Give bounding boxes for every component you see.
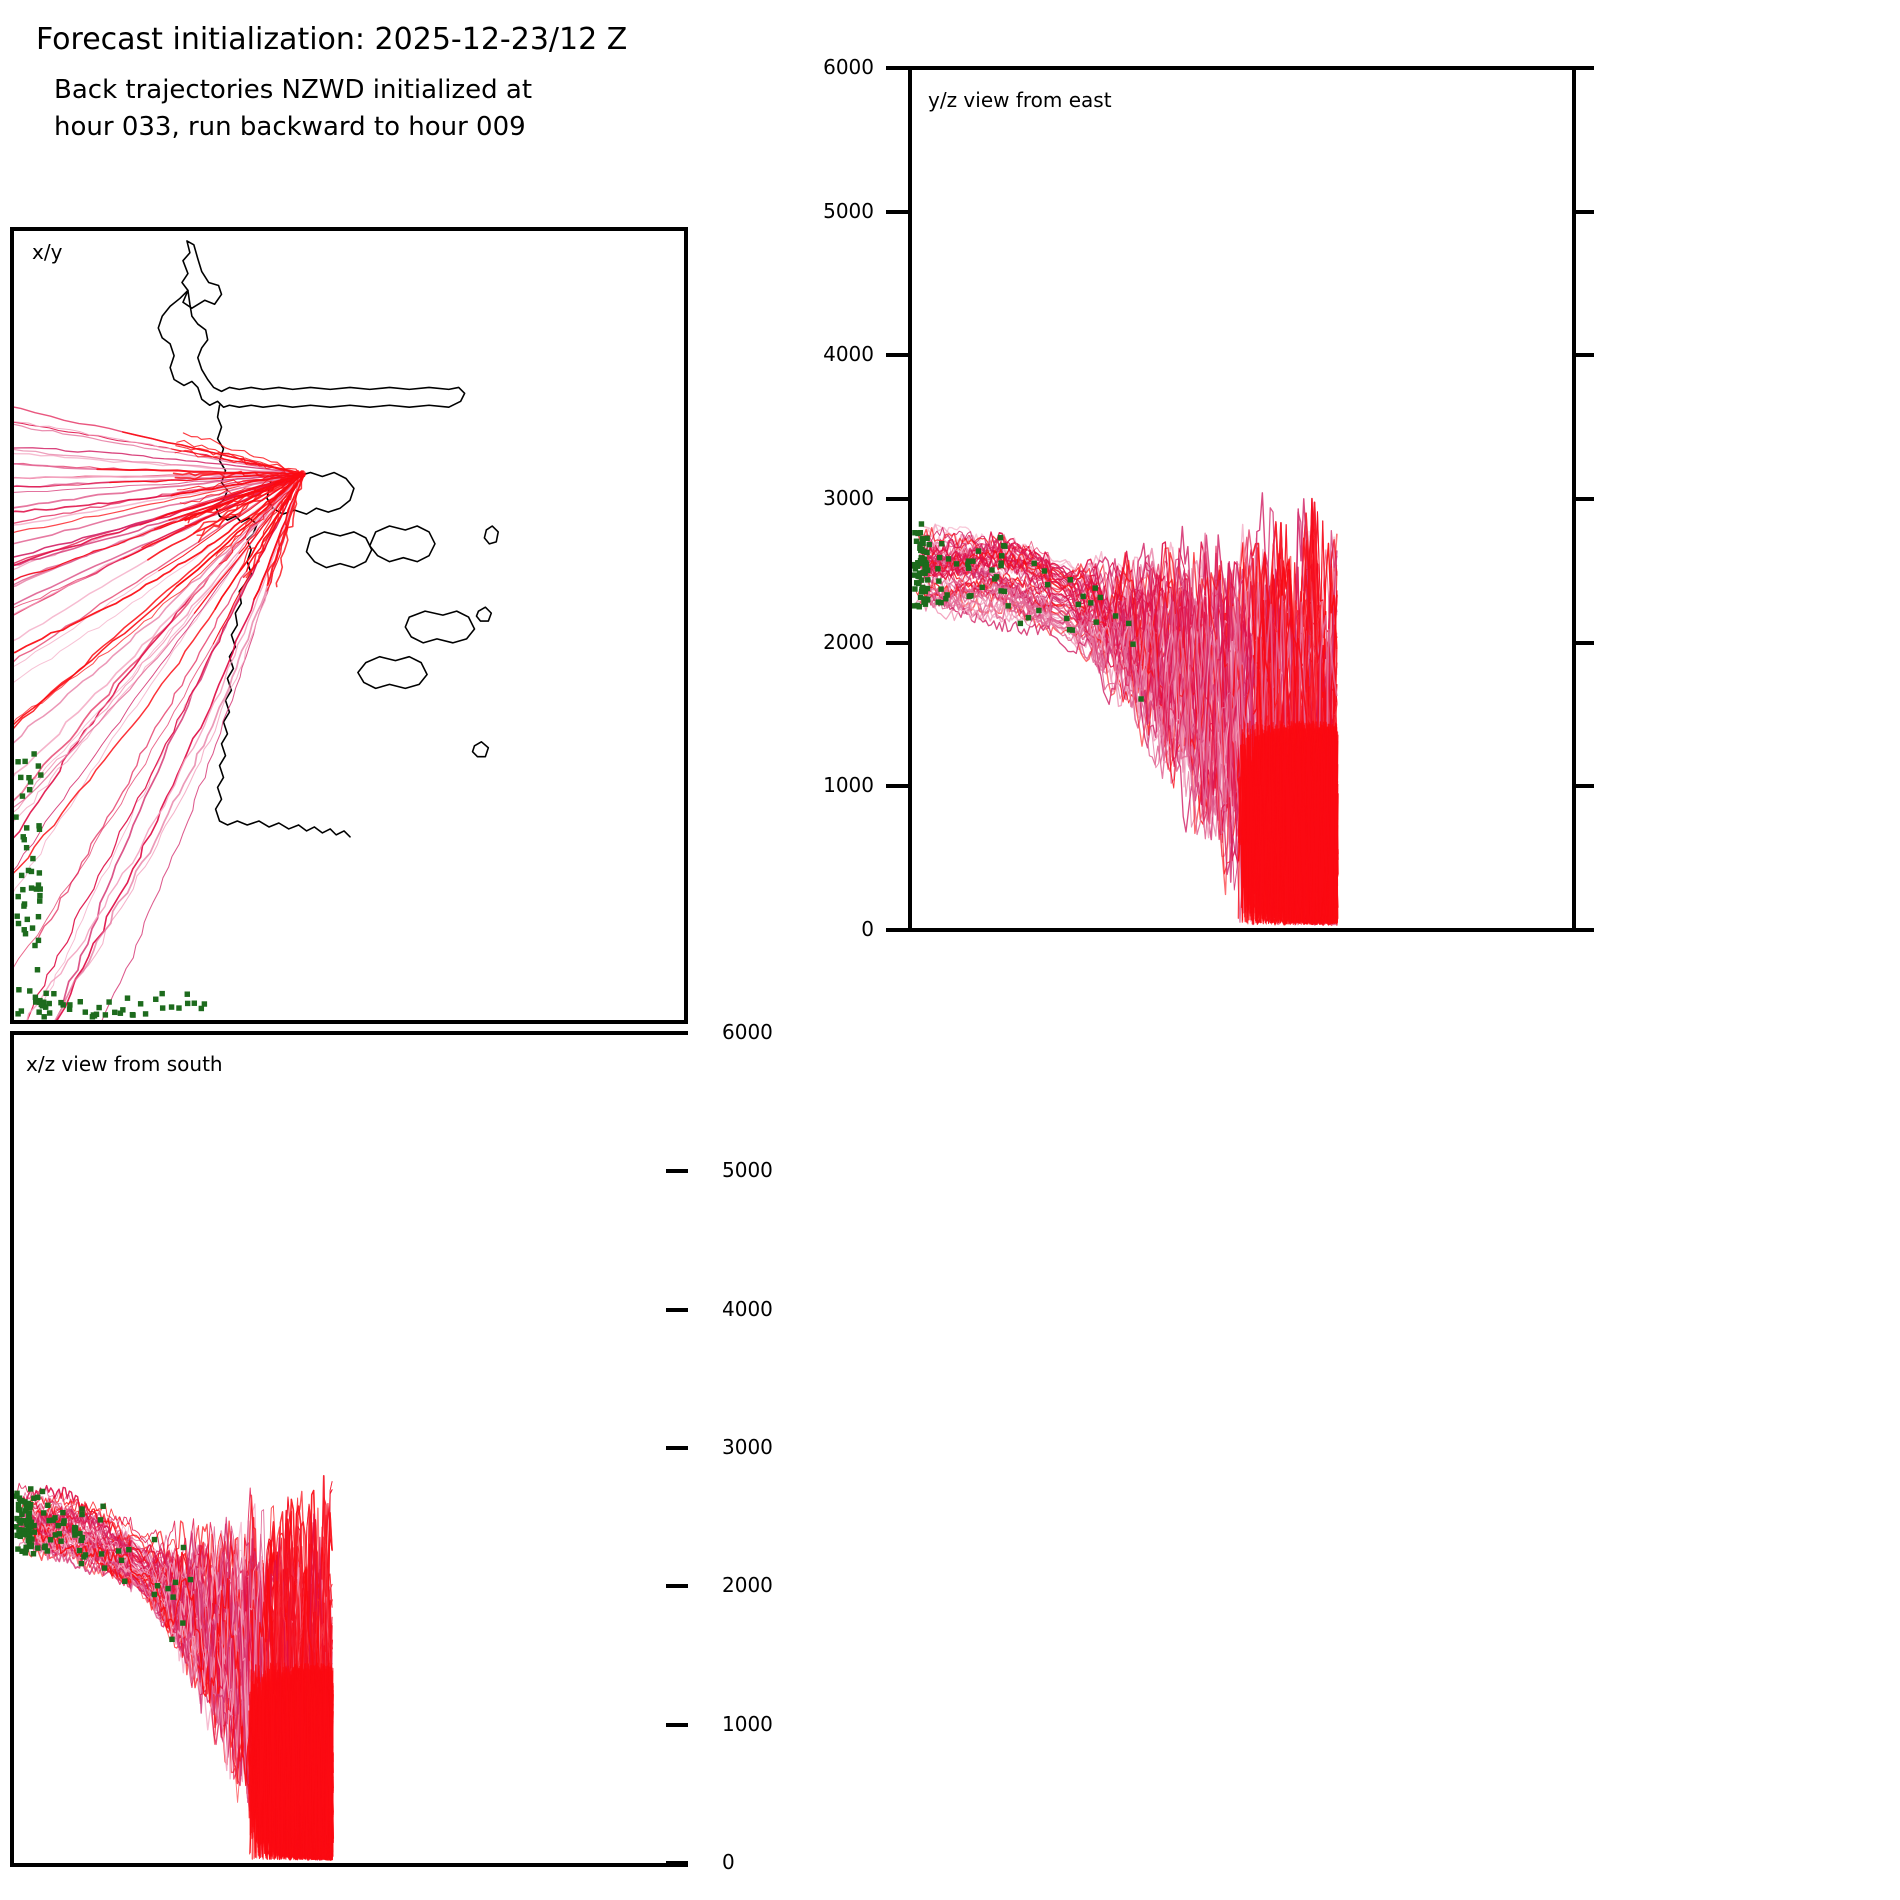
trajectory-endpoint-marker bbox=[14, 814, 19, 819]
coastline-segment bbox=[158, 290, 464, 407]
trajectory-endpoint-marker bbox=[55, 1523, 60, 1528]
trajectory-endpoint-marker bbox=[96, 1005, 101, 1010]
trajectory-endpoint-marker bbox=[1031, 561, 1036, 566]
trajectory-group bbox=[14, 297, 305, 1020]
trajectory-endpoint-marker bbox=[924, 567, 929, 572]
trajectory-endpoint-marker bbox=[138, 1001, 143, 1006]
trajectory-endpoint-marker bbox=[1113, 613, 1118, 618]
trajectory-endpoint-marker bbox=[188, 1577, 193, 1582]
trajectory-endpoint-marker bbox=[927, 542, 932, 547]
trajectory-endpoint-marker bbox=[1068, 577, 1073, 582]
trajectory-endpoint-marker bbox=[18, 775, 23, 780]
trajectory-endpoint-marker bbox=[28, 1544, 33, 1549]
trajectory-endpoint-marker bbox=[81, 1554, 86, 1559]
trajectory-endpoint-marker bbox=[37, 870, 42, 875]
trajectory-endpoint-marker bbox=[100, 1504, 105, 1509]
trajectory-endpoint-marker bbox=[920, 536, 925, 541]
trajectory-endpoint-marker bbox=[966, 594, 971, 599]
coastline-segment bbox=[473, 742, 489, 757]
trajectory-endpoint-marker bbox=[1064, 616, 1069, 621]
trajectory-endpoint-marker bbox=[46, 1518, 51, 1523]
coastline-segment bbox=[307, 532, 372, 568]
trajectory-endpoint-marker bbox=[36, 914, 41, 919]
trajectory-endpoint-marker bbox=[1005, 603, 1010, 608]
trajectory-line bbox=[38, 474, 302, 1020]
trajectory-endpoint-marker bbox=[51, 991, 56, 996]
trajectory-endpoint-marker bbox=[25, 917, 30, 922]
axis-tick-label: 5000 bbox=[778, 199, 874, 223]
trajectory-endpoint-marker bbox=[22, 1499, 27, 1504]
trajectory-endpoint-marker bbox=[67, 1002, 72, 1007]
trajectory-endpoint-marker bbox=[920, 541, 925, 546]
trajectory-endpoint-marker bbox=[130, 1012, 135, 1017]
trajectory-endpoint-marker bbox=[912, 530, 917, 535]
trajectory-endpoint-marker bbox=[1088, 600, 1093, 605]
trajectory-endpoint-marker bbox=[1036, 608, 1041, 613]
trajectory-endpoint-marker bbox=[21, 903, 26, 908]
trajectory-endpoint-marker bbox=[36, 1009, 41, 1014]
yz-plot-surface bbox=[912, 70, 1572, 928]
axis-tick-label: 4000 bbox=[778, 342, 874, 366]
trajectory-endpoint-marker bbox=[914, 539, 919, 544]
trajectory-endpoint-marker bbox=[924, 536, 929, 541]
trajectory-endpoint-marker bbox=[35, 967, 40, 972]
trajectory-endpoint-marker bbox=[45, 1503, 50, 1508]
trajectory-endpoint-marker bbox=[48, 1537, 53, 1542]
panel-xy-label: x/y bbox=[32, 240, 62, 264]
endpoint-marker-group bbox=[14, 751, 207, 1020]
trajectory-endpoint-marker bbox=[41, 1510, 46, 1515]
trajectory-endpoint-marker bbox=[22, 759, 27, 764]
trajectory-endpoint-marker bbox=[1094, 619, 1099, 624]
trajectory-endpoint-marker bbox=[14, 1493, 19, 1498]
trajectory-endpoint-marker bbox=[24, 825, 29, 830]
trajectory-endpoint-marker bbox=[43, 991, 48, 996]
axis-tick bbox=[886, 210, 908, 214]
trajectory-endpoint-marker bbox=[192, 1000, 197, 1005]
trajectory-endpoint-marker bbox=[1018, 621, 1023, 626]
trajectory-endpoint-marker bbox=[1002, 589, 1007, 594]
trajectory-endpoint-marker bbox=[19, 1512, 24, 1517]
coastline-segment bbox=[484, 526, 498, 544]
trajectory-endpoint-marker bbox=[925, 577, 930, 582]
trajectory-endpoint-marker bbox=[1080, 594, 1085, 599]
trajectory-endpoint-marker bbox=[21, 1531, 26, 1536]
xy-plot-surface bbox=[14, 231, 684, 1020]
trajectory-endpoint-marker bbox=[99, 1551, 104, 1556]
trajectory-endpoint-marker bbox=[28, 779, 33, 784]
trajectory-endpoint-marker bbox=[61, 1518, 66, 1523]
trajectory-endpoint-marker bbox=[20, 887, 25, 892]
page-title: Forecast initialization: 2025-12-23/12 Z bbox=[36, 22, 627, 57]
trajectory-endpoint-marker bbox=[37, 898, 42, 903]
trajectory-endpoint-marker bbox=[122, 1579, 127, 1584]
axis-tick-label: 5000 bbox=[722, 1158, 773, 1182]
trajectory-endpoint-marker bbox=[33, 995, 38, 1000]
trajectory-endpoint-marker bbox=[57, 1531, 62, 1536]
panel-yz-label: y/z view from east bbox=[928, 88, 1112, 112]
trajectory-endpoint-marker bbox=[47, 1001, 52, 1006]
trajectory-endpoint-marker bbox=[159, 991, 164, 996]
trajectory-endpoint-marker bbox=[912, 562, 917, 567]
trajectory-endpoint-marker bbox=[1042, 568, 1047, 573]
trajectory-endpoint-marker bbox=[1093, 585, 1098, 590]
trajectory-endpoint-marker bbox=[15, 1011, 20, 1016]
trajectory-endpoint-marker bbox=[938, 586, 943, 591]
axis-tick-label: 3000 bbox=[778, 486, 874, 510]
trajectory-endpoint-marker bbox=[15, 759, 20, 764]
trajectory-endpoint-marker bbox=[919, 577, 924, 582]
trajectory-endpoint-marker bbox=[152, 1592, 157, 1597]
axis-tick bbox=[886, 497, 908, 501]
axis-tick bbox=[886, 784, 908, 788]
axis-tick bbox=[886, 353, 908, 357]
trajectory-endpoint-marker bbox=[72, 1527, 77, 1532]
trajectory-endpoint-marker bbox=[170, 1594, 175, 1599]
trajectory-endpoint-marker bbox=[946, 556, 951, 561]
trajectory-line bbox=[63, 474, 303, 1005]
trajectory-endpoint-marker bbox=[1026, 615, 1031, 620]
trajectory-endpoint-marker bbox=[41, 1014, 46, 1019]
trajectory-endpoint-marker bbox=[60, 1510, 65, 1515]
trajectory-endpoint-marker bbox=[126, 1547, 131, 1552]
trajectory-endpoint-marker bbox=[15, 894, 20, 899]
trajectory-endpoint-marker bbox=[26, 868, 31, 873]
panel-xz-label: x/z view from south bbox=[26, 1052, 223, 1076]
trajectory-endpoint-marker bbox=[26, 1538, 31, 1543]
trajectory-endpoint-marker bbox=[998, 560, 1003, 565]
coastline-segment bbox=[358, 657, 427, 689]
trajectory-endpoint-marker bbox=[36, 763, 41, 768]
trajectory-endpoint-marker bbox=[14, 913, 19, 918]
trajectory-endpoint-marker bbox=[35, 1545, 40, 1550]
trajectory-endpoint-marker bbox=[98, 1517, 103, 1522]
trajectory-endpoint-marker bbox=[37, 893, 42, 898]
trajectory-endpoint-marker bbox=[143, 1011, 148, 1016]
trajectory-line bbox=[42, 473, 303, 1005]
trajectory-endpoint-marker bbox=[103, 1012, 108, 1017]
trajectory-line bbox=[14, 474, 302, 895]
trajectory-endpoint-marker bbox=[92, 1013, 97, 1018]
trajectory-endpoint-marker bbox=[169, 1004, 174, 1009]
axis-tick bbox=[886, 66, 908, 70]
coastline-group bbox=[158, 241, 498, 837]
trajectory-endpoint-marker bbox=[1126, 621, 1131, 626]
trajectory-endpoint-marker bbox=[173, 1580, 178, 1585]
trajectory-endpoint-marker bbox=[1067, 627, 1072, 632]
panel-xy-map[interactable] bbox=[10, 227, 688, 1024]
trajectory-endpoint-marker bbox=[912, 586, 917, 591]
trajectory-endpoint-marker bbox=[27, 988, 32, 993]
trajectory-endpoint-marker bbox=[18, 1518, 23, 1523]
trajectory-endpoint-marker bbox=[998, 535, 1003, 540]
trajectory-endpoint-marker bbox=[125, 995, 130, 1000]
axis-tick-label: 3000 bbox=[722, 1435, 773, 1459]
trajectory-endpoint-marker bbox=[924, 562, 929, 567]
trajectory-endpoint-marker bbox=[40, 1489, 45, 1494]
trajectory-endpoint-marker bbox=[83, 1009, 88, 1014]
trajectory-endpoint-marker bbox=[944, 592, 949, 597]
axis-tick-label: 6000 bbox=[722, 1020, 773, 1044]
trajectory-endpoint-marker bbox=[30, 856, 35, 861]
trajectory-endpoint-marker bbox=[20, 793, 25, 798]
subtitle-line-2: hour 033, run backward to hour 009 bbox=[54, 109, 532, 146]
trajectory-endpoint-marker bbox=[28, 1524, 33, 1529]
trajectory-endpoint-marker bbox=[939, 541, 944, 546]
trajectory-endpoint-marker bbox=[119, 1558, 124, 1563]
coastline-segment bbox=[182, 241, 222, 308]
trajectory-endpoint-marker bbox=[185, 991, 190, 996]
trajectory-endpoint-marker bbox=[165, 1586, 170, 1591]
trajectory-endpoint-marker bbox=[28, 1486, 33, 1491]
panel-xz-view-from-south[interactable] bbox=[10, 1031, 688, 1867]
coastline-segment bbox=[476, 607, 491, 621]
trajectory-endpoint-marker bbox=[169, 1637, 174, 1642]
axis-tick-label: 1000 bbox=[778, 773, 874, 797]
trajectory-endpoint-marker bbox=[80, 1535, 85, 1540]
trajectory-endpoint-marker bbox=[152, 1537, 157, 1542]
trajectory-endpoint-marker bbox=[155, 1583, 160, 1588]
trajectory-endpoint-marker bbox=[72, 1532, 77, 1537]
trajectory-endpoint-marker bbox=[938, 600, 943, 605]
axis-tick-label: 4000 bbox=[722, 1297, 773, 1321]
trajectory-endpoint-marker bbox=[35, 1495, 40, 1500]
trajectory-endpoint-marker bbox=[989, 567, 994, 572]
trajectory-endpoint-marker bbox=[19, 873, 24, 878]
trajectory-endpoint-marker bbox=[58, 1000, 63, 1005]
trajectory-endpoint-marker bbox=[79, 1561, 84, 1566]
trajectory-endpoint-marker bbox=[199, 1006, 204, 1011]
trajectory-endpoint-marker bbox=[1045, 582, 1050, 587]
trajectory-endpoint-marker bbox=[935, 566, 940, 571]
trajectory-endpoint-marker bbox=[918, 530, 923, 535]
axis-tick-label: 2000 bbox=[778, 630, 874, 654]
trajectory-endpoint-marker bbox=[58, 1538, 63, 1543]
trajectory-endpoint-marker bbox=[922, 596, 927, 601]
trajectory-endpoint-marker bbox=[1130, 641, 1135, 646]
trajectory-endpoint-marker bbox=[1076, 602, 1081, 607]
trajectory-endpoint-marker bbox=[976, 548, 981, 553]
trajectory-endpoint-marker bbox=[102, 1565, 107, 1570]
trajectory-endpoint-marker bbox=[181, 1545, 186, 1550]
trajectory-endpoint-marker bbox=[992, 576, 997, 581]
axis-tick bbox=[886, 641, 908, 645]
trajectory-endpoint-marker bbox=[21, 834, 26, 839]
trajectory-endpoint-marker bbox=[160, 1005, 165, 1010]
trajectory-endpoint-marker bbox=[39, 1002, 44, 1007]
panel-yz-view-from-east[interactable] bbox=[908, 66, 1576, 932]
trajectory-endpoint-marker bbox=[16, 1502, 21, 1507]
trajectory-endpoint-marker bbox=[921, 549, 926, 554]
trajectory-endpoint-marker bbox=[180, 1620, 185, 1625]
trajectory-endpoint-marker bbox=[31, 1551, 36, 1556]
trajectory-line bbox=[14, 379, 303, 473]
trajectory-endpoint-marker bbox=[979, 585, 984, 590]
trajectory-endpoint-marker bbox=[915, 603, 920, 608]
xz-plot-surface bbox=[14, 1035, 688, 1863]
coastline-segment bbox=[405, 611, 474, 643]
trajectory-endpoint-marker bbox=[79, 1506, 84, 1511]
trajectory-endpoint-marker bbox=[31, 751, 36, 756]
trajectory-endpoint-marker bbox=[30, 925, 35, 930]
trajectory-endpoint-marker bbox=[999, 553, 1004, 558]
trajectory-line bbox=[14, 380, 303, 473]
trajectory-group bbox=[914, 493, 1338, 925]
axis-tick-label: 2000 bbox=[722, 1573, 773, 1597]
trajectory-endpoint-marker bbox=[38, 772, 43, 777]
trajectory-group bbox=[16, 1476, 333, 1860]
trajectory-endpoint-marker bbox=[23, 1550, 28, 1555]
trajectory-endpoint-marker bbox=[32, 943, 37, 948]
trajectory-endpoint-marker bbox=[24, 845, 29, 850]
trajectory-endpoint-marker bbox=[106, 999, 111, 1004]
trajectory-endpoint-marker bbox=[27, 787, 32, 792]
trajectory-endpoint-marker bbox=[23, 931, 28, 936]
subtitle-line-1: Back trajectories NZWD initialized at bbox=[54, 72, 532, 109]
trajectory-endpoint-marker bbox=[15, 1546, 20, 1551]
trajectory-endpoint-marker bbox=[1138, 696, 1143, 701]
trajectory-endpoint-marker bbox=[29, 885, 34, 890]
trajectory-endpoint-marker bbox=[47, 1010, 52, 1015]
trajectory-endpoint-marker bbox=[937, 555, 942, 560]
trajectory-endpoint-marker bbox=[36, 938, 41, 943]
trajectory-endpoint-marker bbox=[120, 1007, 125, 1012]
trajectory-endpoint-marker bbox=[78, 999, 83, 1004]
trajectory-endpoint-marker bbox=[79, 1512, 84, 1517]
trajectory-endpoint-marker bbox=[16, 1527, 21, 1532]
trajectory-endpoint-marker bbox=[918, 559, 923, 564]
trajectory-endpoint-marker bbox=[1098, 595, 1103, 600]
trajectory-endpoint-marker bbox=[965, 561, 970, 566]
trajectory-endpoint-marker bbox=[185, 1001, 190, 1006]
axis-tick-label: 1000 bbox=[722, 1712, 773, 1736]
trajectory-endpoint-marker bbox=[16, 987, 21, 992]
axis-tick-label: 0 bbox=[778, 917, 874, 941]
trajectory-endpoint-marker bbox=[42, 1545, 47, 1550]
trajectory-endpoint-marker bbox=[153, 997, 158, 1002]
trajectory-endpoint-marker bbox=[27, 1510, 32, 1515]
trajectory-endpoint-marker bbox=[16, 921, 21, 926]
axis-tick bbox=[886, 928, 908, 932]
axis-tick-label: 6000 bbox=[778, 55, 874, 79]
trajectory-endpoint-marker bbox=[920, 585, 925, 590]
trajectory-endpoint-marker bbox=[32, 1529, 37, 1534]
trajectory-endpoint-marker bbox=[116, 1548, 121, 1553]
trajectory-endpoint-marker bbox=[912, 572, 917, 577]
trajectory-endpoint-marker bbox=[77, 1548, 82, 1553]
trajectory-endpoint-marker bbox=[38, 886, 43, 891]
trajectory-endpoint-marker bbox=[1002, 543, 1007, 548]
axis-tick-label: 0 bbox=[722, 1850, 735, 1874]
trajectory-endpoint-marker bbox=[37, 827, 42, 832]
trajectory-endpoint-marker bbox=[954, 561, 959, 566]
trajectory-endpoint-marker bbox=[176, 1005, 181, 1010]
trajectory-endpoint-marker bbox=[919, 521, 924, 526]
coastline-segment bbox=[370, 526, 435, 562]
subtitle: Back trajectories NZWD initialized at ho… bbox=[54, 72, 532, 146]
trajectory-endpoint-marker bbox=[112, 1010, 117, 1015]
trajectory-endpoint-marker bbox=[936, 578, 941, 583]
